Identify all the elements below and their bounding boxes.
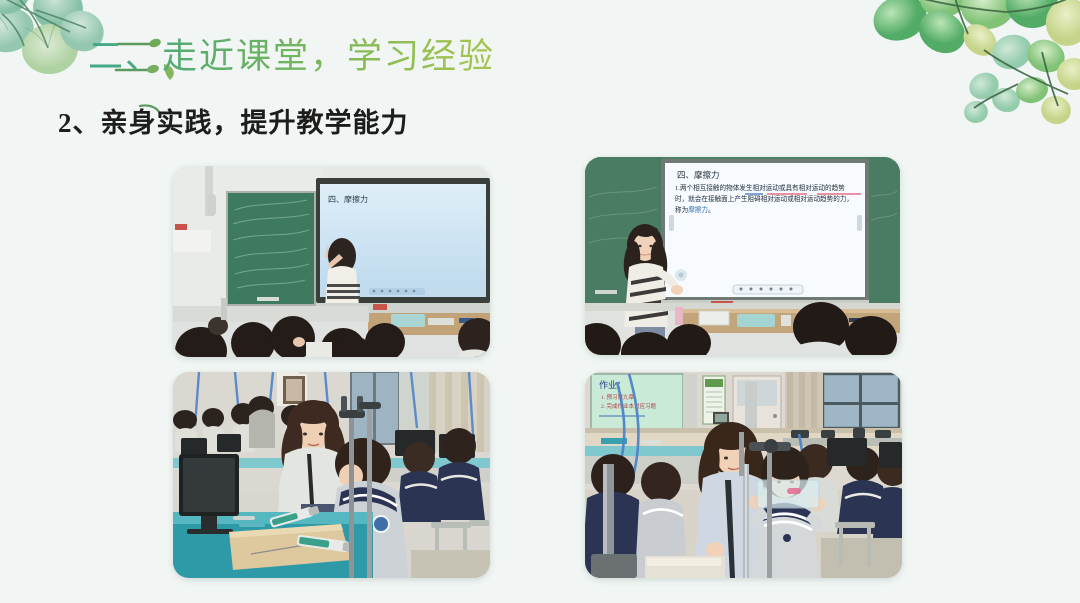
photo-classroom-teacher-writing[interactable]: 四、摩擦力 [173,166,490,357]
svg-text:称为摩擦力。: 称为摩擦力。 [675,205,715,214]
svg-text:时，就会在接触面上产生阻碍相对运动或相对运动趋势的力，: 时，就会在接触面上产生阻碍相对运动或相对运动趋势的力， [675,194,853,203]
page-subtitle: 2、亲身实践，提升教学能力 [58,101,409,140]
svg-text:1.两个相互接触的物体发生相对运动或具有相对运动的趋势: 1.两个相互接触的物体发生相对运动或具有相对运动的趋势 [675,183,845,192]
eucalyptus-branch-top-right-icon [856,0,1080,157]
photo-lab-student-holding-glass[interactable]: 作业： 1. 预习第九章 2. 完成作业本对应习题 [585,372,902,578]
photo-teacher-lecturing-smartboard[interactable]: 四、摩擦力 1.两个相互接触的物体发生相对运动或具有相对运动的趋势 时，就会在接… [585,157,900,355]
slide-canvas: 二、走近课堂，学习经验 2、亲身实践，提升教学能力 [0,0,1080,603]
svg-text:2. 完成作业本对应习题: 2. 完成作业本对应习题 [601,402,657,410]
svg-text:作业：: 作业： [599,379,626,390]
svg-text:四、摩擦力: 四、摩擦力 [677,170,720,180]
svg-text:四、摩擦力: 四、摩擦力 [328,194,368,204]
svg-text:1. 预习第九章: 1. 预习第九章 [601,393,635,401]
photo-lab-teacher-guiding-student[interactable] [173,372,490,578]
page-title: 二、走近课堂，学习经验 [88,36,495,78]
